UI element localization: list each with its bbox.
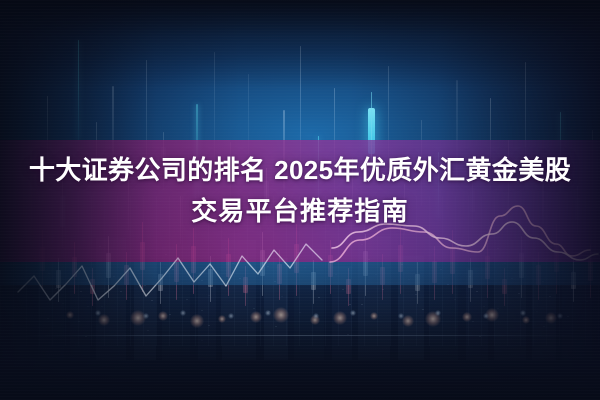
title-line-2: 交易平台推荐指南 xyxy=(0,191,600,232)
title-line-1: 十大证券公司的排名 2025年优质外汇黄金美股 xyxy=(0,150,600,191)
banner-image: 十大证券公司的排名 2025年优质外汇黄金美股 交易平台推荐指南 xyxy=(0,0,600,400)
page-title: 十大证券公司的排名 2025年优质外汇黄金美股 交易平台推荐指南 xyxy=(0,150,600,232)
